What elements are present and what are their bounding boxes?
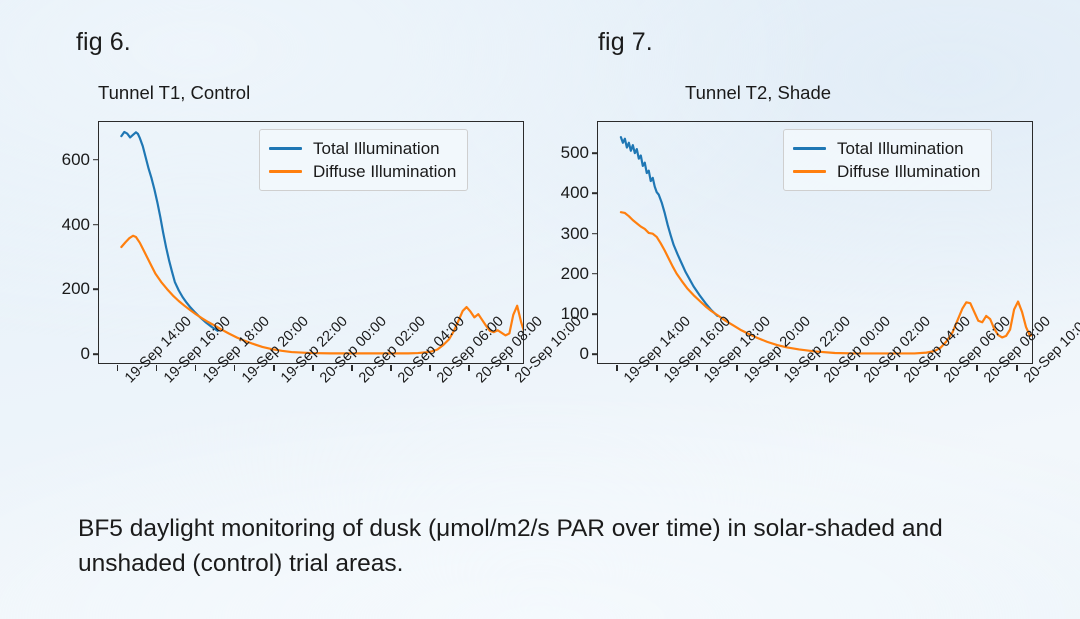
legend-item-diffuse: Diffuse Illumination [793,160,980,183]
y-axis-labels: 0200400600 [20,121,98,364]
x-axis-tick-mark [507,365,509,371]
x-axis-tick-mark [896,365,898,371]
x-axis-tick-label: 20-Sep 02:00 [861,375,872,386]
x-axis-tick-mark [429,365,431,371]
x-axis-tick-mark [234,365,236,371]
x-axis-tick-label: 19-Sep 18:00 [701,375,712,386]
x-axis-tick-mark [468,365,470,371]
x-axis-tick-label: 20-Sep 00:00 [317,375,328,386]
chart-legend: Total Illumination Diffuse Illumination [259,129,468,191]
x-axis-tick-label: 19-Sep 14:00 [122,375,133,386]
x-axis-tick-mark [776,365,778,371]
x-axis-tick-mark [696,365,698,371]
x-axis-tick-label: 19-Sep 14:00 [621,375,632,386]
x-axis-tick-label: 19-Sep 20:00 [741,375,752,386]
x-axis-tick-mark [1016,365,1018,371]
legend-label-total: Total Illumination [313,139,440,159]
x-axis-tick-mark [936,365,938,371]
x-axis-tick-mark [976,365,978,371]
x-axis-tick-mark [656,365,658,371]
x-axis-tick-label: 20-Sep 10:00 [512,375,523,386]
x-axis-tick-label: 20-Sep 06:00 [941,375,952,386]
legend-label-diffuse: Diffuse Illumination [313,162,456,182]
plot-area: 19-Sep 14:0019-Sep 16:0019-Sep 18:0019-S… [98,121,524,364]
x-axis-tick-label: 20-Sep 08:00 [981,375,992,386]
legend-item-total: Total Illumination [269,137,456,160]
slide-canvas: fig 6. fig 7. Tunnel T1, Control 0200400… [0,0,1080,619]
x-axis-tick-label: 19-Sep 16:00 [161,375,172,386]
chart-tunnel-t1-control: Tunnel T1, Control 0200400600 19-Sep 14:… [20,82,520,382]
x-axis-tick-label: 19-Sep 22:00 [781,375,792,386]
x-axis-tick-label: 20-Sep 02:00 [356,375,367,386]
x-axis-tick-mark [312,365,314,371]
x-axis-tick-mark [156,365,158,371]
x-axis-tick-mark [273,365,275,371]
legend-swatch-total [793,147,826,150]
x-axis-tick-label: 19-Sep 18:00 [200,375,211,386]
legend-swatch-diffuse [793,170,826,173]
x-axis-tick-label: 19-Sep 22:00 [278,375,289,386]
chart-tunnel-t2-shade: Tunnel T2, Shade 0100200300400500 19-Sep… [540,82,1050,382]
figure-7-label: fig 7. [598,28,653,57]
figure-6-label: fig 6. [76,28,131,57]
legend-item-diffuse: Diffuse Illumination [269,160,456,183]
slide-caption: BF5 daylight monitoring of dusk (μmol/m2… [78,512,1018,582]
x-axis-tick-label: 20-Sep 04:00 [395,375,406,386]
legend-label-diffuse: Diffuse Illumination [837,162,980,182]
x-axis-tick-label: 20-Sep 04:00 [901,375,912,386]
x-axis-tick-label: 20-Sep 08:00 [473,375,484,386]
chart-title: Tunnel T1, Control [98,82,250,104]
x-axis-tick-mark [351,365,353,371]
x-axis-tick-mark [195,365,197,371]
legend-swatch-total [269,147,302,150]
x-axis-tick-mark [390,365,392,371]
x-axis-tick-label: 19-Sep 16:00 [661,375,672,386]
x-axis-tick-label: 20-Sep 00:00 [821,375,832,386]
chart-legend: Total Illumination Diffuse Illumination [783,129,992,191]
x-axis-tick-label: 19-Sep 20:00 [239,375,250,386]
x-axis-tick-mark [117,365,119,371]
chart-title: Tunnel T2, Shade [685,82,831,104]
plot-area: 19-Sep 14:0019-Sep 16:0019-Sep 18:0019-S… [597,121,1033,364]
legend-item-total: Total Illumination [793,137,980,160]
legend-swatch-diffuse [269,170,302,173]
x-axis-tick-label: 20-Sep 06:00 [434,375,445,386]
x-axis-tick-label: 20-Sep 10:00 [1021,375,1032,386]
x-axis-tick-mark [816,365,818,371]
y-axis-labels: 0100200300400500 [540,121,597,364]
x-axis-tick-mark [856,365,858,371]
x-axis-tick-mark [736,365,738,371]
legend-label-total: Total Illumination [837,139,964,159]
x-axis-tick-mark [616,365,618,371]
